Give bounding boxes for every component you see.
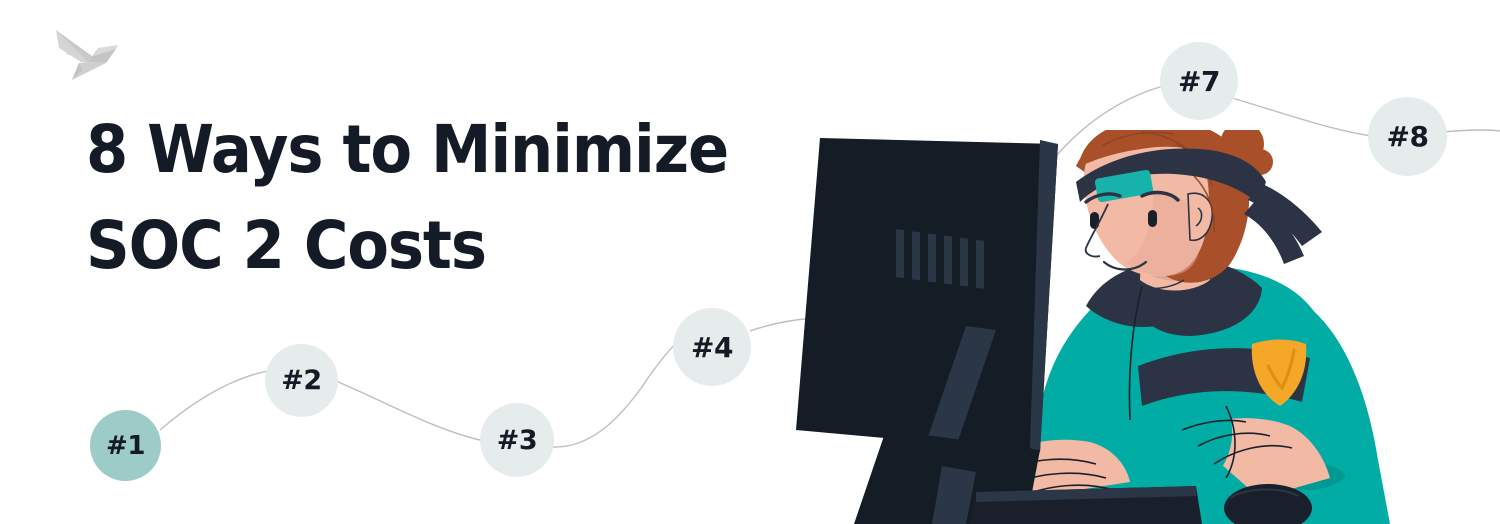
step-node-7[interactable]: #7 [1160,42,1238,120]
step-node-1[interactable]: #1 [90,410,161,481]
origami-bird-logo[interactable] [26,18,136,80]
monitor-body [796,138,1058,452]
step-node-3-label: #3 [497,425,537,456]
page-title: 8 Ways to Minimize SOC 2 Costs [86,102,840,294]
path-3-4 [553,338,682,447]
step-node-4[interactable]: #4 [673,308,751,386]
step-node-7-label: #7 [1178,65,1220,98]
banner-hero: 8 Ways to Minimize SOC 2 Costs #1 [0,0,1500,524]
path-1-2 [160,371,268,430]
desktop-monitor [796,138,1058,524]
person-at-computer-illustration [790,130,1500,524]
step-node-1-label: #1 [106,431,145,461]
step-node-2[interactable]: #2 [265,344,338,417]
origami-bird-icon [56,30,118,80]
step-node-2-label: #2 [281,365,321,396]
person-head [1076,130,1322,291]
path-2-3 [336,381,484,441]
step-node-4-label: #4 [691,331,733,364]
step-node-3[interactable]: #3 [480,403,554,477]
